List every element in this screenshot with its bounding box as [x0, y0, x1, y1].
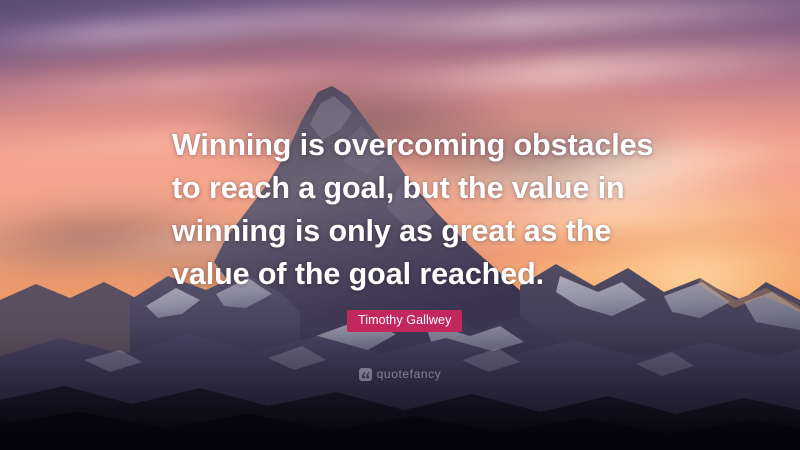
quote-line-3: winning is only as great as the — [172, 210, 652, 253]
quote-text: Winning is overcoming obstacles to reach… — [172, 124, 652, 296]
watermark: quotefancy — [0, 368, 800, 381]
quote-poster: Winning is overcoming obstacles to reach… — [0, 0, 800, 450]
quote-line-4: value of the goal reached. — [172, 253, 652, 296]
watermark-label: quotefancy — [377, 368, 442, 381]
quote-line-2: to reach a goal, but the value in — [172, 167, 652, 210]
author-name-badge[interactable]: Timothy Gallwey — [347, 310, 462, 332]
quote-mark-badge-icon — [359, 368, 372, 381]
quote-line-1: Winning is overcoming obstacles — [172, 124, 652, 167]
